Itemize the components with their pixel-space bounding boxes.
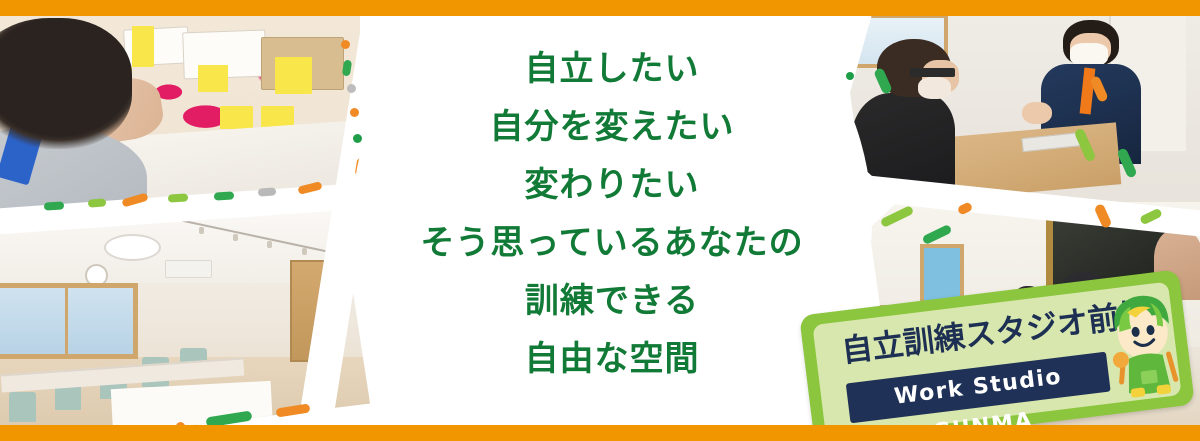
decor-dash-icon xyxy=(88,198,107,207)
decor-dash-icon xyxy=(168,193,189,202)
sticky-note xyxy=(220,106,253,129)
air-conditioner xyxy=(165,260,213,278)
sticky-note xyxy=(132,47,154,68)
client-face-mask xyxy=(918,77,951,100)
catchcopy-block: 自立したい 自分を変えたい 変わりたい そう思っているあなたの 訓練できる 自由… xyxy=(352,40,872,388)
staff-hand xyxy=(1022,102,1052,125)
spot-light xyxy=(233,234,238,241)
site-hero-banner: 自立したい 自分を変えたい 変わりたい そう思っているあなたの 訓練できる 自由… xyxy=(0,0,1200,441)
chair xyxy=(9,392,36,422)
catchcopy-line-3: 変わりたい xyxy=(352,156,872,214)
catchcopy-line-4: そう思っているあなたの xyxy=(352,214,872,272)
client-glasses xyxy=(910,68,955,76)
sticky-note xyxy=(198,65,227,92)
staff-face-mask xyxy=(1070,43,1107,66)
decor-dot-icon xyxy=(341,40,350,49)
worker-head xyxy=(0,18,132,149)
top-orange-rule xyxy=(0,0,1200,16)
sticky-note xyxy=(275,57,312,94)
catchcopy-line-6: 自由な空間 xyxy=(352,330,872,388)
decor-dash-icon xyxy=(44,201,65,210)
catchcopy-line-2: 自分を変えたい xyxy=(352,98,872,156)
room-window xyxy=(0,283,138,360)
spot-light xyxy=(199,227,204,234)
bottom-orange-rule xyxy=(0,425,1200,441)
catchcopy-line-5: 訓練できる xyxy=(352,272,872,330)
decor-dash-icon xyxy=(214,191,235,200)
decor-dash-icon xyxy=(258,187,277,196)
spot-light xyxy=(302,248,307,255)
catchcopy-line-1: 自立したい xyxy=(352,40,872,98)
spot-light xyxy=(267,241,272,248)
mascot-character-icon xyxy=(1100,283,1187,403)
